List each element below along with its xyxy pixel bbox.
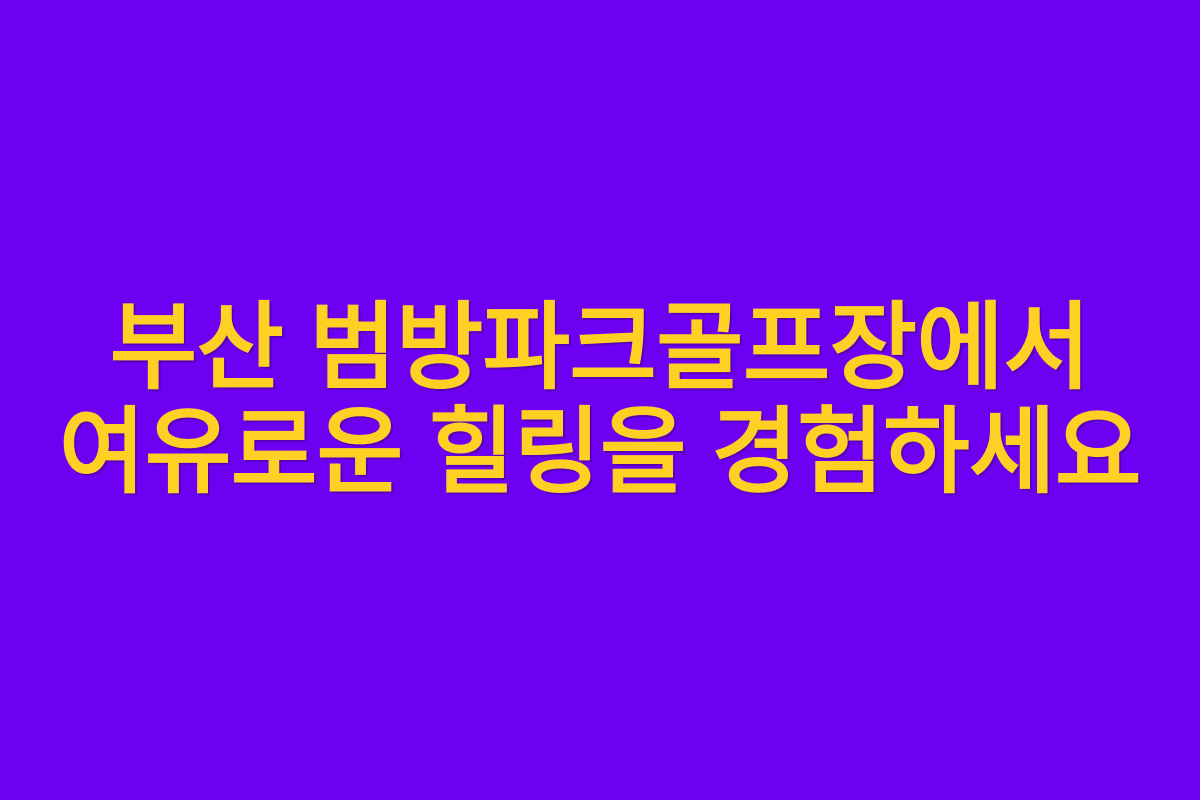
headline-block: 부산 범방파크골프장에서 여유로운 힐링을 경험하세요 <box>0 297 1200 503</box>
promo-banner: 부산 범방파크골프장에서 여유로운 힐링을 경험하세요 <box>0 0 1200 800</box>
headline-line-2: 여유로운 힐링을 경험하세요 <box>59 400 1141 503</box>
headline-line-1: 부산 범방파크골프장에서 <box>110 297 1090 400</box>
